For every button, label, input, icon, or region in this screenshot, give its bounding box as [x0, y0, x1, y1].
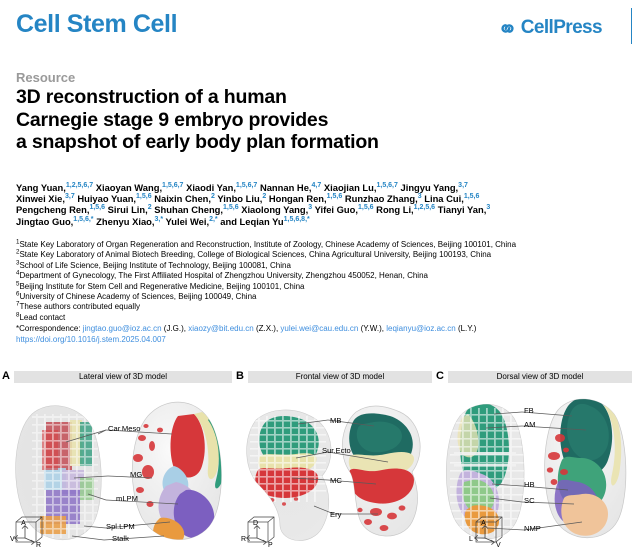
- panel-b-canvas: MB Sur.Ecto MC Ery D R P: [236, 386, 434, 558]
- doi-link[interactable]: https://doi.org/10.1016/j.stem.2025.04.0…: [16, 335, 166, 344]
- author-line: Pengcheng Ren,1,5,6 Sirui Lin,2 Shuhan C…: [16, 204, 626, 215]
- panel-letter-b: B: [236, 370, 244, 382]
- affiliation-text: These authors contributed equally: [19, 302, 140, 311]
- correspondence-email[interactable]: leqianyu@ioz.ac.cn: [386, 324, 456, 333]
- panel-c-label-2: HB: [524, 480, 535, 489]
- affiliation-text: State Key Laboratory of Animal Biotech B…: [19, 250, 491, 259]
- panel-a-label-2: mLPM: [116, 494, 138, 503]
- affiliation-item: 5Beijing Institute for Stem Cell and Reg…: [16, 282, 636, 292]
- panel-a-label-3: Spl.LPM: [106, 522, 135, 531]
- axis-label-left: L: [469, 536, 473, 543]
- affiliation-item: 2State Key Laboratory of Animal Biotech …: [16, 250, 636, 260]
- panel-b-label-0: MB: [330, 416, 341, 425]
- axis-label-up: A: [21, 520, 26, 527]
- affiliation-item: 7These authors contributed equally: [16, 302, 636, 312]
- figure-panel-c: C Dorsal view of 3D model: [436, 368, 640, 558]
- axis-label-left: V: [10, 536, 15, 543]
- panel-b-label-1: Sur.Ecto: [322, 446, 351, 455]
- page-title: 3D reconstruction of a human Carnegie st…: [16, 86, 616, 154]
- panel-title-b: Frontal view of 3D model: [248, 371, 432, 383]
- author-list: Yang Yuan,1,2,5,6,7 Xiaoyan Wang,1,5,6,7…: [16, 182, 626, 227]
- figure-panel-b: B Frontal view of 3D model: [236, 368, 434, 558]
- correspondence-line: *Correspondence: jingtao.guo@ioz.ac.cn (…: [16, 324, 636, 334]
- panel-c-label-1: AM: [524, 420, 535, 429]
- axis-label-up: D: [253, 520, 258, 527]
- figure-panel-a: A Lateral view of 3D model: [2, 368, 234, 558]
- panel-a-label-0: Car.Meso: [108, 424, 141, 433]
- journal-title: Cell Stem Cell: [16, 10, 177, 39]
- author-line: Jingtao Guo,1,5,6,* Zhenyu Xiao,3,* Yule…: [16, 216, 626, 227]
- panel-c-label-0: FB: [524, 406, 534, 415]
- panel-c-label-4: NMP: [524, 524, 541, 533]
- affiliation-text: University of Chinese Academy of Science…: [19, 292, 256, 301]
- affiliation-text: State Key Laboratory of Organ Regenerati…: [19, 240, 516, 249]
- affiliation-item: 6University of Chinese Academy of Scienc…: [16, 292, 636, 302]
- panel-a-label-1: MG: [130, 470, 142, 479]
- cellpress-wordmark: CellPress: [521, 17, 602, 39]
- axis-label-up: A: [481, 520, 486, 527]
- correspondence-email[interactable]: yulei.wei@cau.edu.cn: [280, 324, 358, 333]
- panel-a-axis-indicator: A V R: [8, 516, 52, 556]
- correspondence-initials: (J.G.),: [162, 324, 189, 333]
- panel-c-axis-indicator: A L V: [468, 516, 514, 556]
- author-line: Xinwei Xie,3,7 Huiyao Yuan,1,5,6 Naixin …: [16, 193, 626, 204]
- affiliation-item: 8Lead contact: [16, 313, 636, 323]
- affiliation-text: Department of Gynecology, The First Affi…: [19, 271, 428, 280]
- correspondence-initials: (L.Y.): [456, 324, 477, 333]
- axis-label-right: P: [268, 542, 273, 549]
- affiliation-text: Lead contact: [19, 313, 65, 322]
- panel-title-c: Dorsal view of 3D model: [448, 371, 632, 383]
- correspondence-email[interactable]: xiaozy@bit.edu.cn: [188, 324, 254, 333]
- affiliation-text: School of Life Science, Beijing Institut…: [19, 261, 290, 270]
- masthead: Cell Stem Cell CellPress: [0, 0, 640, 52]
- panel-a-label-4: Stalk: [112, 534, 129, 543]
- panel-a-canvas: Car.Meso MG mLPM Spl.LPM Stalk A V R: [2, 386, 234, 558]
- correspondence-email[interactable]: jingtao.guo@ioz.ac.cn: [83, 324, 162, 333]
- affiliation-item: 4Department of Gynecology, The First Aff…: [16, 271, 636, 281]
- masthead-divider: [631, 8, 632, 44]
- correspondence-initials: (Y.W.),: [358, 324, 386, 333]
- author-line: Yang Yuan,1,2,5,6,7 Xiaoyan Wang,1,5,6,7…: [16, 182, 626, 193]
- axis-label-left: R: [241, 536, 246, 543]
- panel-b-label-2: MC: [330, 476, 342, 485]
- doi-line: https://doi.org/10.1016/j.stem.2025.04.0…: [16, 335, 636, 345]
- cellpress-logo[interactable]: CellPress: [499, 17, 602, 39]
- affiliation-list: 1State Key Laboratory of Organ Regenerat…: [16, 240, 636, 346]
- affiliation-item: 3School of Life Science, Beijing Institu…: [16, 261, 636, 271]
- cellpress-link-icon: [499, 20, 516, 37]
- correspondence-label: *Correspondence:: [16, 324, 83, 333]
- panel-title-a: Lateral view of 3D model: [14, 371, 232, 383]
- figure-3d-models: A Lateral view of 3D model: [0, 368, 640, 558]
- panel-letter-a: A: [2, 370, 10, 382]
- title-line-2: Carnegie stage 9 embryo provides: [16, 109, 616, 132]
- panel-c-label-3: SC: [524, 496, 535, 505]
- axis-label-right: V: [496, 542, 501, 549]
- panel-b-axis-indicator: D R P: [240, 516, 284, 556]
- article-type-label: Resource: [16, 70, 75, 85]
- axis-label-right: R: [36, 542, 41, 549]
- panel-letter-c: C: [436, 370, 444, 382]
- title-line-3: a snapshot of early body plan formation: [16, 131, 616, 154]
- correspondence-initials: (Z.X.),: [254, 324, 281, 333]
- panel-b-label-3: Ery: [330, 510, 341, 519]
- affiliation-item: 1State Key Laboratory of Organ Regenerat…: [16, 240, 636, 250]
- panel-c-canvas: FB AM HB SC NMP A L V: [436, 386, 640, 558]
- title-line-1: 3D reconstruction of a human: [16, 86, 616, 109]
- affiliation-text: Beijing Institute for Stem Cell and Rege…: [19, 282, 304, 291]
